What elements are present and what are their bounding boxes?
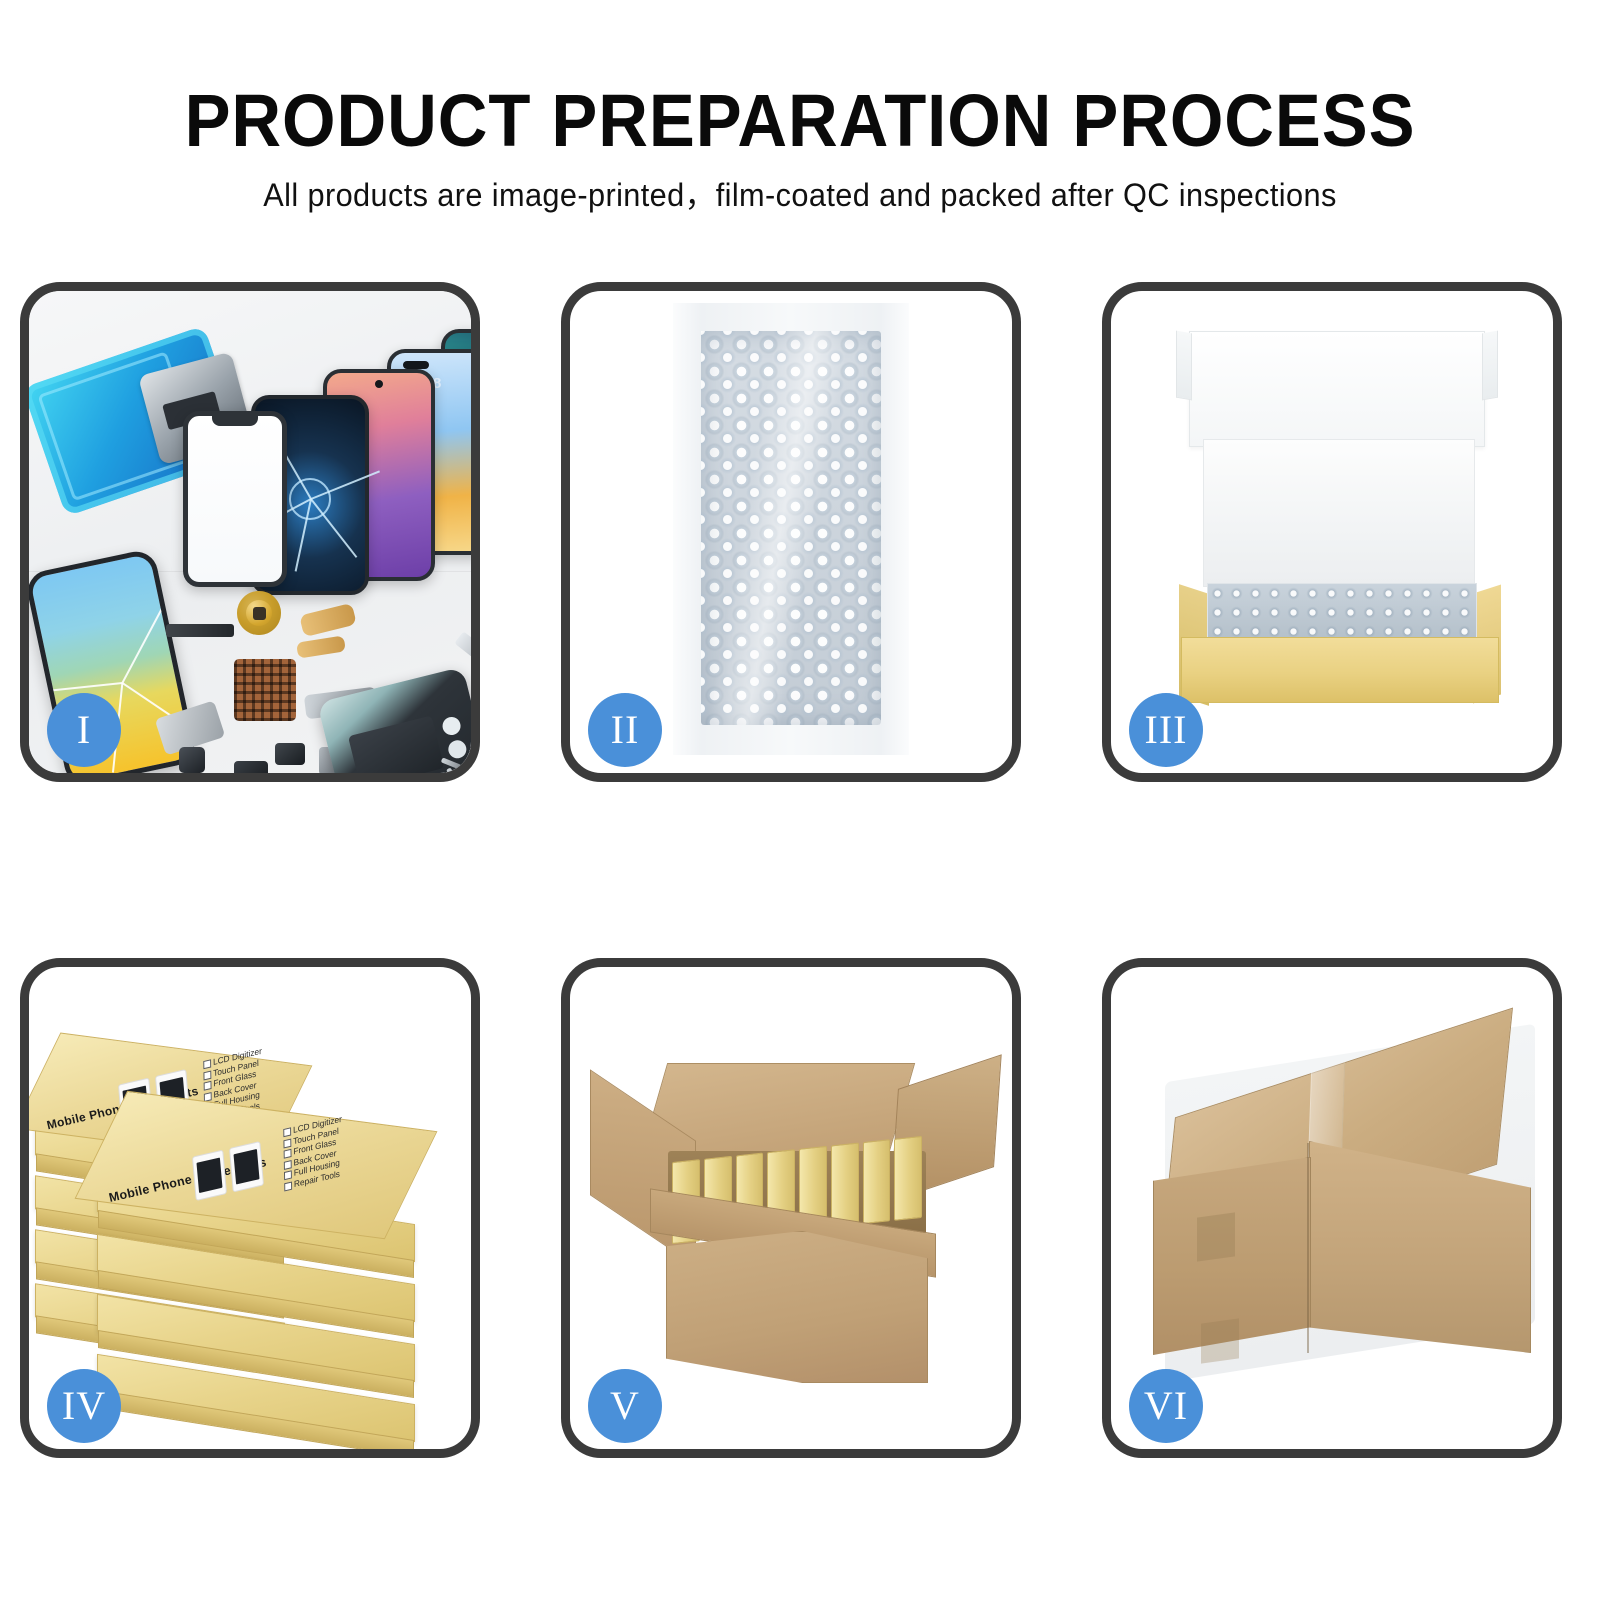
page-subtitle: All products are image-printed，film-coat… (32, 170, 1568, 216)
step-badge-1: I (47, 693, 121, 767)
carton-tab-icon (1201, 1318, 1239, 1363)
mailer-box-front-wall (1181, 637, 1499, 703)
step-badge-4: IV (47, 1369, 121, 1443)
carton-corner-seam (1307, 1143, 1309, 1353)
camera-module-icon (179, 747, 205, 773)
screws-icon (441, 757, 471, 773)
step-badge-5: V (588, 1369, 662, 1443)
camera-module-icon (234, 761, 268, 773)
bubble-wrapped-product-icon (1207, 583, 1477, 641)
camera-dot-icon (375, 380, 383, 388)
step-badge-2: II (588, 693, 662, 767)
header: PRODUCT PREPARATION PROCESS All products… (0, 0, 1600, 250)
crack-line-icon (310, 498, 357, 558)
page-title: PRODUCT PREPARATION PROCESS (56, 78, 1544, 163)
gold-box-icon (894, 1136, 922, 1221)
step-panel-5: V (561, 958, 1021, 1458)
step-panel-6: VI (1102, 958, 1562, 1458)
ic-chip-icon (234, 659, 296, 721)
carton-tab-icon (1197, 1212, 1235, 1261)
step-panel-3: III (1102, 282, 1562, 782)
infographic-page: PRODUCT PREPARATION PROCESS All products… (0, 0, 1600, 1600)
open-shipping-carton (608, 1045, 984, 1395)
sealed-shipping-carton (1145, 1053, 1541, 1385)
mailer-box-back-wall (1203, 439, 1475, 587)
carton-front-face (666, 1231, 928, 1383)
camera-lens-icon (441, 715, 463, 737)
retail-box-stack: Mobile Phone Spare Parts LCD Digitizer T… (35, 1013, 471, 1433)
bubble-wrap-texture-icon (701, 331, 881, 725)
gold-box-icon (831, 1143, 859, 1228)
crack-line-icon (122, 603, 166, 683)
step-panel-1: 08:08 (20, 282, 480, 782)
mailer-box-lid (1189, 331, 1485, 447)
wireless-charging-coil-icon (237, 591, 281, 635)
process-step-grid: 08:08 (0, 282, 1600, 1462)
speaker-bar-part-icon (166, 624, 234, 637)
mailer-box-tray (1181, 583, 1499, 709)
battery-icon (348, 716, 445, 773)
camera-pill-icon (403, 361, 429, 369)
step-panel-4: Mobile Phone Spare Parts LCD Digitizer T… (20, 958, 480, 1458)
bubble-wrap-sleeve (673, 303, 909, 755)
step-badge-3: III (1129, 693, 1203, 767)
gold-box-icon (863, 1139, 891, 1224)
phone-thumbnail-icon (192, 1150, 227, 1201)
step-badge-6: VI (1129, 1369, 1203, 1443)
tempered-glass-protector (183, 411, 287, 587)
phone-thumbnail-icon (229, 1141, 264, 1192)
retail-box-checklist: LCD Digitizer Touch Panel Front Glass Ba… (283, 1114, 343, 1192)
step-panel-2: II (561, 282, 1021, 782)
camera-module-icon (275, 743, 305, 765)
phone-screen-fan: 08:08 (179, 325, 471, 575)
